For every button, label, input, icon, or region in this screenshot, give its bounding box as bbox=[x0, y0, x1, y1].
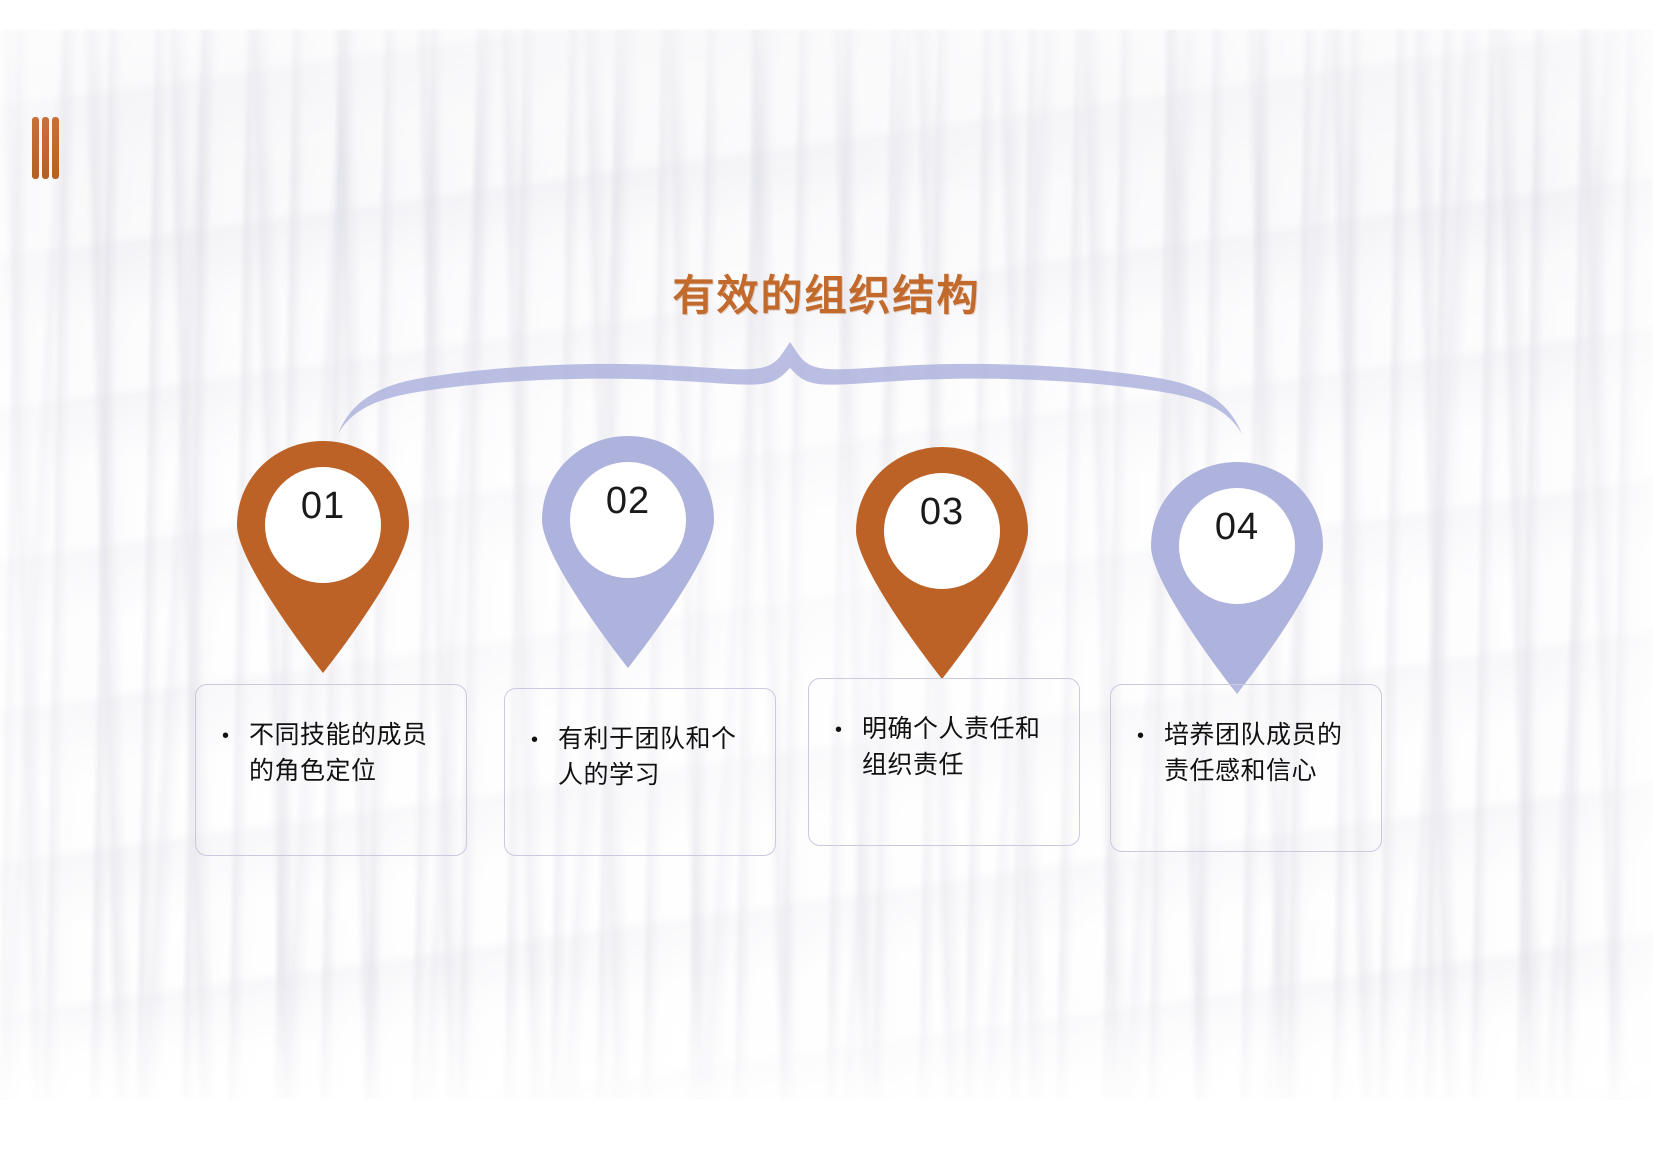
info-box-text-03: 明确个人责任和组织责任 bbox=[842, 679, 1079, 783]
info-box-text-04: 培养团队成员的责任感和信心 bbox=[1144, 685, 1381, 789]
pin-marker-04[interactable]: 04 bbox=[1147, 458, 1327, 698]
pin-number-03: 03 bbox=[852, 491, 1032, 534]
info-box-01[interactable]: • 不同技能的成员的角色定位 bbox=[195, 684, 467, 856]
three-bars-logo bbox=[32, 117, 60, 179]
info-box-02[interactable]: • 有利于团队和个人的学习 bbox=[504, 688, 776, 856]
pin-marker-01[interactable]: 01 bbox=[233, 437, 413, 677]
info-box-04[interactable]: • 培养团队成员的责任感和信心 bbox=[1110, 684, 1382, 852]
bullet-icon-01: • bbox=[196, 685, 229, 753]
page-title: 有效的组织结构 bbox=[0, 262, 1653, 323]
logo-bar-2 bbox=[42, 117, 49, 179]
pin-number-01: 01 bbox=[233, 485, 413, 528]
pin-marker-02[interactable]: 02 bbox=[538, 432, 718, 672]
info-box-text-02: 有利于团队和个人的学习 bbox=[538, 689, 775, 793]
info-box-03[interactable]: • 明确个人责任和组织责任 bbox=[808, 678, 1080, 846]
info-box-text-01: 不同技能的成员的角色定位 bbox=[229, 685, 466, 789]
bullet-icon-04: • bbox=[1111, 685, 1144, 753]
pin-number-02: 02 bbox=[538, 480, 718, 523]
slide-canvas: 有效的组织结构 01 02 03 04 bbox=[0, 0, 1653, 1168]
logo-bar-1 bbox=[32, 117, 39, 179]
bullet-icon-03: • bbox=[809, 679, 842, 747]
bullet-icon-02: • bbox=[505, 689, 538, 757]
pin-marker-03[interactable]: 03 bbox=[852, 443, 1032, 683]
pin-number-04: 04 bbox=[1147, 506, 1327, 549]
curly-brace-icon bbox=[330, 330, 1250, 450]
logo-bar-3 bbox=[52, 117, 59, 179]
